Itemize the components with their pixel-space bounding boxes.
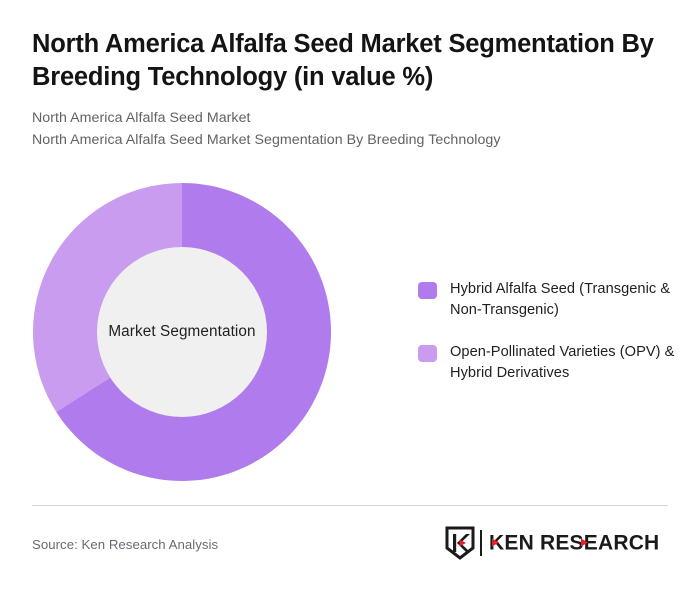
ken-research-shield-k-icon bbox=[445, 526, 475, 560]
brand-logo: KEN RESEARCH bbox=[445, 524, 677, 562]
legend-swatch-icon bbox=[418, 345, 437, 362]
donut-chart-svg bbox=[33, 183, 331, 481]
brand-divider bbox=[480, 530, 482, 556]
subtitle-line-1: North America Alfalfa Seed Market bbox=[32, 108, 672, 129]
source-text: Source: Ken Research Analysis bbox=[32, 537, 218, 552]
legend-swatch-icon bbox=[418, 282, 437, 299]
donut-inner-circle bbox=[97, 247, 267, 417]
legend-item-label: Hybrid Alfalfa Seed (Transgenic & Non-Tr… bbox=[450, 279, 676, 322]
ken-research-wordmark: KEN RESEARCH bbox=[489, 530, 677, 556]
donut-chart: Market Segmentation bbox=[33, 183, 331, 481]
chart-legend: Hybrid Alfalfa Seed (Transgenic & Non-Tr… bbox=[418, 279, 676, 385]
svg-text:KEN RESEARCH: KEN RESEARCH bbox=[489, 532, 659, 555]
subtitle-block: North America Alfalfa Seed Market North … bbox=[32, 108, 672, 151]
page-title: North America Alfalfa Seed Market Segmen… bbox=[32, 28, 672, 94]
legend-item[interactable]: Open-Pollinated Varieties (OPV) & Hybrid… bbox=[418, 342, 676, 385]
chart-card: North America Alfalfa Seed Market Segmen… bbox=[0, 0, 700, 591]
legend-item[interactable]: Hybrid Alfalfa Seed (Transgenic & Non-Tr… bbox=[418, 279, 676, 322]
subtitle-line-2: North America Alfalfa Seed Market Segmen… bbox=[32, 130, 672, 151]
footer-divider bbox=[32, 505, 668, 506]
legend-item-label: Open-Pollinated Varieties (OPV) & Hybrid… bbox=[450, 342, 676, 385]
chart-header: North America Alfalfa Seed Market Segmen… bbox=[32, 28, 672, 151]
